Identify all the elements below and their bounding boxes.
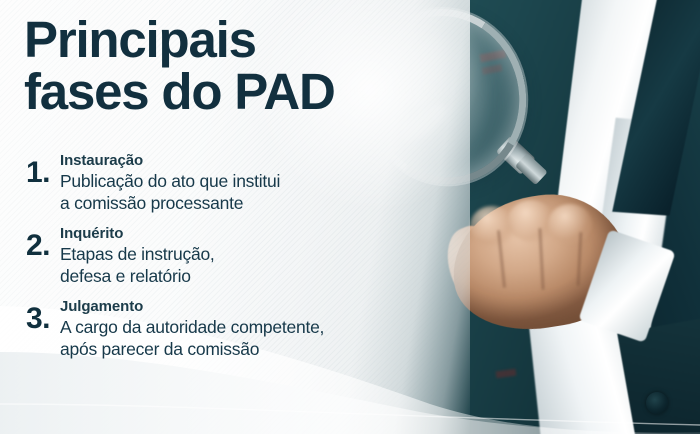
list-item: 1. Instauração Publicação do ato que ins…: [26, 152, 446, 214]
step-description-2: Etapas de instrução, defesa e relatório: [60, 243, 446, 287]
step-description-3: A cargo da autoridade competente, após p…: [60, 316, 446, 360]
step-number-3: 3.: [26, 304, 56, 334]
step-description-2-line-1: Etapas de instrução,: [60, 243, 446, 265]
title-line-1: Principais: [24, 11, 256, 68]
text-content: Principais fases do PAD 1. Instauração P…: [0, 0, 700, 434]
step-description-1-line-2: a comissão processante: [60, 192, 446, 214]
step-body-3: Julgamento A cargo da autoridade compete…: [60, 298, 446, 360]
title-line-2: fases do PAD: [24, 66, 424, 118]
step-description-3-line-1: A cargo da autoridade competente,: [60, 316, 446, 338]
step-body-1: Instauração Publicação do ato que instit…: [60, 152, 446, 214]
infographic-banner: Principais fases do PAD 1. Instauração P…: [0, 0, 700, 434]
step-number-1: 1.: [26, 158, 56, 188]
step-heading-2: Inquérito: [60, 225, 446, 242]
list-item: 3. Julgamento A cargo da autoridade comp…: [26, 298, 446, 360]
step-heading-1: Instauração: [60, 152, 446, 169]
step-description-1: Publicação do ato que institui a comissã…: [60, 170, 446, 214]
page-title: Principais fases do PAD: [24, 14, 424, 118]
step-description-2-line-2: defesa e relatório: [60, 265, 446, 287]
steps-list: 1. Instauração Publicação do ato que ins…: [26, 152, 446, 371]
step-description-3-line-2: após parecer da comissão: [60, 338, 446, 360]
step-number-2: 2.: [26, 231, 56, 261]
step-description-1-line-1: Publicação do ato que institui: [60, 170, 446, 192]
list-item: 2. Inquérito Etapas de instrução, defesa…: [26, 225, 446, 287]
step-body-2: Inquérito Etapas de instrução, defesa e …: [60, 225, 446, 287]
step-heading-3: Julgamento: [60, 298, 446, 315]
